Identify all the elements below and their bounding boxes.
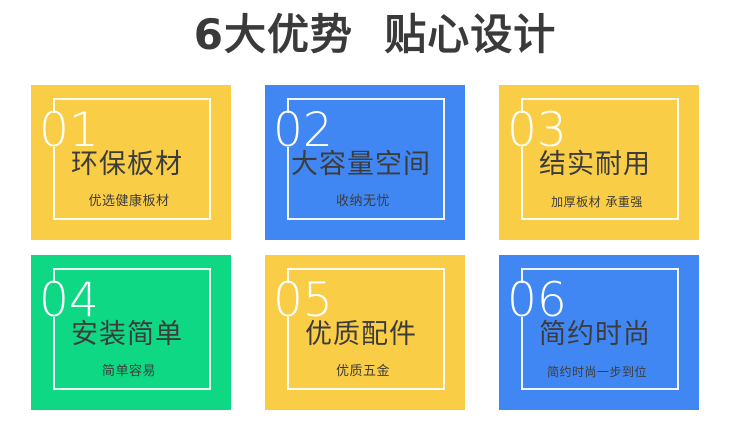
feature-card-grid: 01 环保板材 优选健康板材 02 大容量空间 收纳无忧 03 结实耐用 加厚板…	[31, 85, 700, 410]
card-title: 优质配件	[265, 318, 457, 352]
card-number: 05	[273, 277, 333, 324]
card-title: 环保板材	[31, 148, 223, 182]
card-title: 简约时尚	[499, 318, 691, 352]
card-frame-top-edge	[521, 98, 679, 100]
card-title: 安装简单	[31, 318, 223, 352]
card-frame-top-edge	[287, 268, 445, 270]
card-number: 02	[273, 107, 333, 154]
card-number: 03	[507, 107, 567, 154]
card-frame-bottom-edge	[53, 218, 211, 220]
page-title: 6大优势 贴心设计	[0, 6, 750, 64]
card-frame-bottom-edge	[53, 388, 211, 390]
promo-feature-grid-page: 6大优势 贴心设计 01 环保板材 优选健康板材 02 大容量空间 收纳无忧	[0, 0, 750, 438]
card-title: 结实耐用	[499, 148, 691, 182]
card-subtitle: 优选健康板材	[31, 193, 227, 211]
card-frame-bottom-edge	[521, 388, 679, 390]
feature-card-04[interactable]: 04 安装简单 简单容易	[31, 255, 231, 410]
card-frame-bottom-edge	[287, 388, 445, 390]
card-number: 01	[39, 107, 99, 154]
feature-card-02[interactable]: 02 大容量空间 收纳无忧	[265, 85, 465, 240]
card-title: 大容量空间	[265, 148, 457, 182]
feature-card-06[interactable]: 06 简约时尚 简约时尚一步到位	[499, 255, 699, 410]
card-subtitle: 简单容易	[31, 363, 227, 381]
card-frame-top-edge	[521, 268, 679, 270]
feature-card-05[interactable]: 05 优质配件 优质五金	[265, 255, 465, 410]
card-number: 04	[39, 277, 99, 324]
feature-card-03[interactable]: 03 结实耐用 加厚板材 承重强	[499, 85, 699, 240]
feature-card-01[interactable]: 01 环保板材 优选健康板材	[31, 85, 231, 240]
card-subtitle: 简约时尚一步到位	[499, 363, 695, 381]
card-frame-top-edge	[287, 98, 445, 100]
card-frame-bottom-edge	[287, 218, 445, 220]
card-frame-top-edge	[53, 268, 211, 270]
card-subtitle: 收纳无忧	[265, 193, 461, 211]
card-number: 06	[507, 277, 567, 324]
card-subtitle: 加厚板材 承重强	[499, 193, 695, 211]
card-subtitle: 优质五金	[265, 363, 461, 381]
card-frame-bottom-edge	[521, 218, 679, 220]
card-frame-top-edge	[53, 98, 211, 100]
